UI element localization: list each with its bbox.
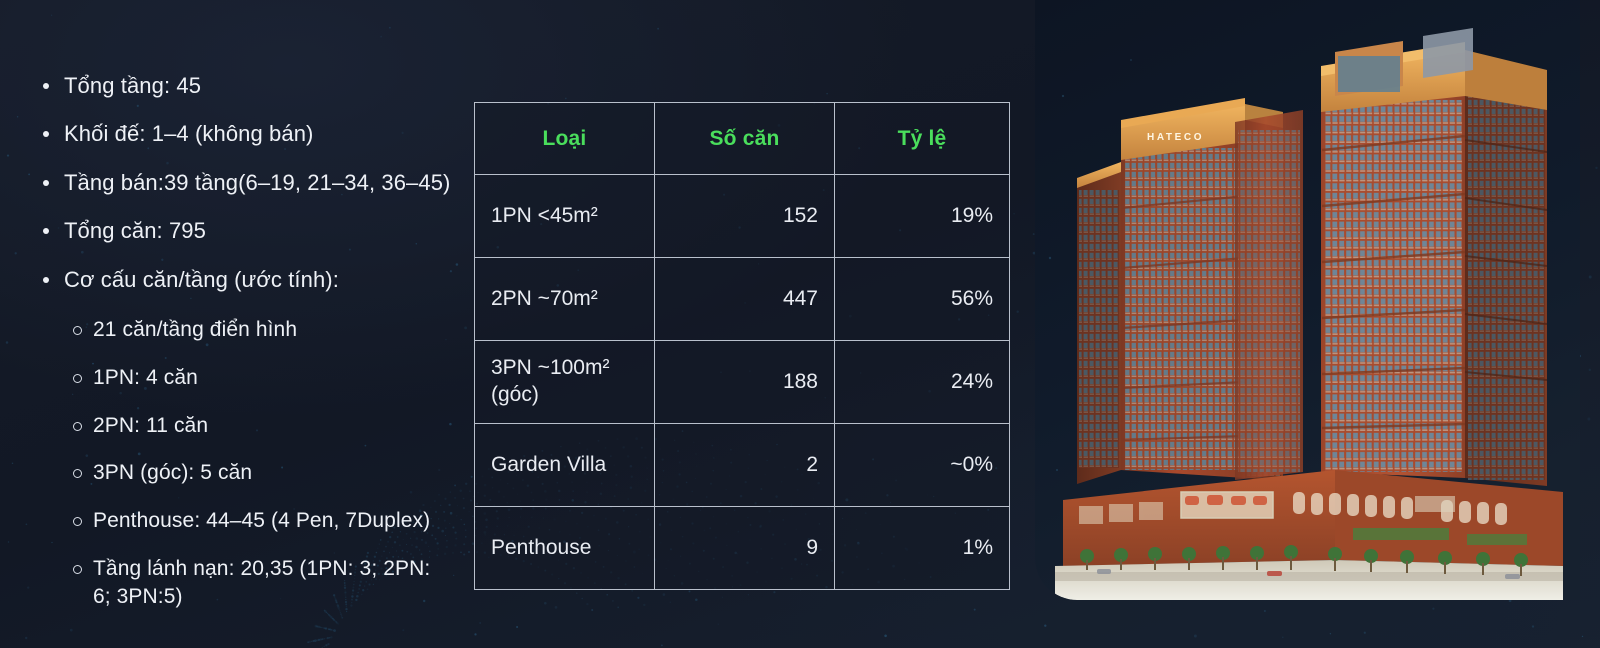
cell-count: 9 (655, 507, 835, 590)
cell-type: 3PN ~100m²(góc) (475, 341, 655, 424)
secondary-bullet-list: 21 căn/tầng điển hình 1PN: 4 căn 2PN: 11… (64, 316, 462, 611)
bullet-text: 1PN: 4 căn (93, 366, 198, 389)
cell-ratio: ~0% (835, 424, 1010, 507)
table-header-row: Loại Số căn Tỷ lệ (475, 103, 1010, 175)
table-header: Loại Số căn Tỷ lệ (475, 103, 1010, 175)
bullet-text: 21 căn/tầng điển hình (93, 318, 297, 341)
list-item: 21 căn/tầng điển hình (64, 316, 444, 344)
table-row: Garden Villa 2 ~0% (475, 424, 1010, 507)
table-body: 1PN <45m² 152 19% 2PN ~70m² 447 56% 3PN … (475, 175, 1010, 590)
cell-type: Penthouse (475, 507, 655, 590)
cell-type: 1PN <45m² (475, 175, 655, 258)
column-header-count: Số căn (655, 103, 835, 175)
cell-ratio: 56% (835, 258, 1010, 341)
bullet-text: Tổng căn: 795 (64, 218, 206, 243)
building-render-panel: HATECO (1035, 0, 1580, 600)
list-item: Tổng tầng: 45 (34, 72, 462, 100)
hateco-sign-text: HATECO (1147, 132, 1204, 143)
bullet-text: Khối đế: 1–4 (không bán) (64, 121, 313, 146)
cell-count: 188 (655, 341, 835, 424)
cell-type: Garden Villa (475, 424, 655, 507)
bullet-panel: Tổng tầng: 45 Khối đế: 1–4 (không bán) T… (0, 0, 462, 632)
cell-count: 152 (655, 175, 835, 258)
building-render-frame: HATECO (1035, 0, 1580, 600)
list-item: 1PN: 4 căn (64, 364, 444, 392)
column-header-ratio: Tỷ lệ (835, 103, 1010, 175)
primary-bullet-list: Tổng tầng: 45 Khối đế: 1–4 (không bán) T… (34, 72, 462, 611)
cell-type: 2PN ~70m² (475, 258, 655, 341)
slide-root: Tổng tầng: 45 Khối đế: 1–4 (không bán) T… (0, 0, 1600, 648)
list-item: 2PN: 11 căn (64, 412, 444, 440)
list-item: Tầng lánh nạn: 20,35 (1PN: 3; 2PN: 6; 3P… (64, 555, 444, 611)
column-header-type: Loại (475, 103, 655, 175)
bullet-text: Tầng bán:39 tầng(6–19, 21–34, 36–45) (64, 170, 450, 195)
cell-ratio: 24% (835, 341, 1010, 424)
cell-ratio: 19% (835, 175, 1010, 258)
list-item: Tầng bán:39 tầng(6–19, 21–34, 36–45) (34, 169, 462, 197)
bullet-text: Cơ cấu căn/tầng (ước tính): (64, 267, 339, 292)
cell-count: 2 (655, 424, 835, 507)
table-panel: Loại Số căn Tỷ lệ 1PN <45m² 152 19% 2PN … (474, 0, 1010, 590)
bullet-text: 3PN (góc): 5 căn (93, 461, 252, 484)
list-item: Penthouse: 44–45 (4 Pen, 7Duplex) (64, 507, 444, 535)
bullet-text: Penthouse: 44–45 (4 Pen, 7Duplex) (93, 509, 430, 532)
unit-mix-table: Loại Số căn Tỷ lệ 1PN <45m² 152 19% 2PN … (474, 102, 1010, 590)
list-item: 3PN (góc): 5 căn (64, 459, 444, 487)
bullet-text: Tầng lánh nạn: 20,35 (1PN: 3; 2PN: 6; 3P… (93, 557, 430, 608)
table-row: 1PN <45m² 152 19% (475, 175, 1010, 258)
building-render-image: HATECO (1035, 0, 1580, 600)
table-row: Penthouse 9 1% (475, 507, 1010, 590)
list-item: Tổng căn: 795 (34, 217, 462, 245)
bullet-text: 2PN: 11 căn (93, 414, 208, 437)
table-row: 3PN ~100m²(góc) 188 24% (475, 341, 1010, 424)
list-item: Cơ cấu căn/tầng (ước tính): 21 căn/tầng … (34, 266, 462, 611)
list-item: Khối đế: 1–4 (không bán) (34, 120, 462, 148)
cell-ratio: 1% (835, 507, 1010, 590)
bullet-text: Tổng tầng: 45 (64, 73, 201, 98)
table-row: 2PN ~70m² 447 56% (475, 258, 1010, 341)
cell-count: 447 (655, 258, 835, 341)
